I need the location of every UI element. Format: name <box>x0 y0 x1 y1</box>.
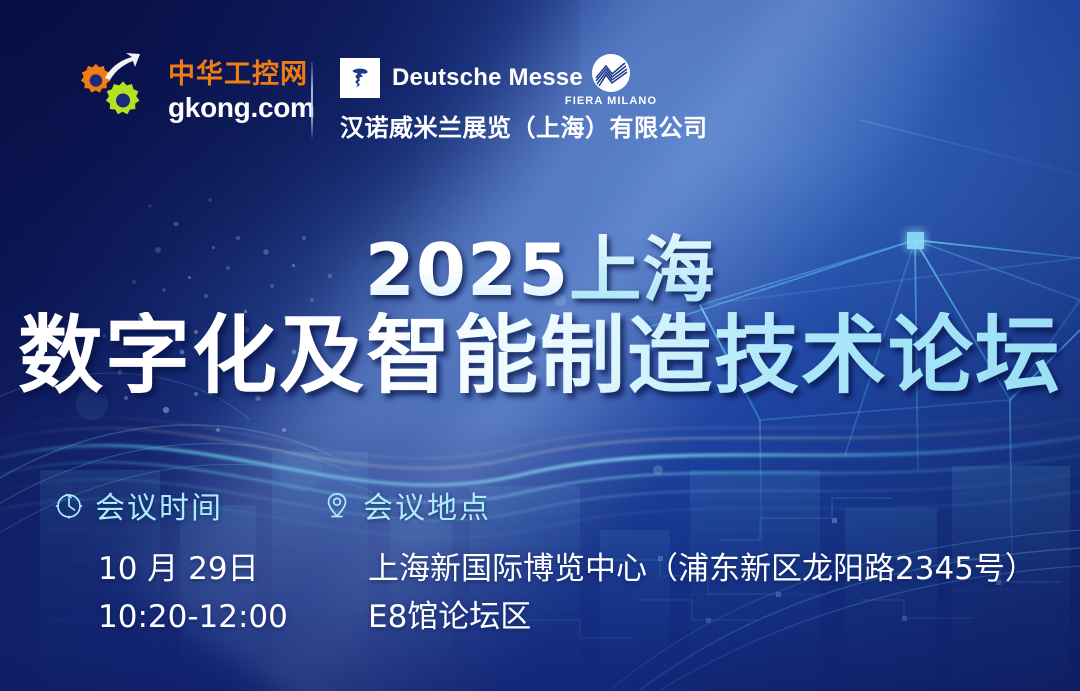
meeting-place-values: 上海新国际博览中心（浦东新区龙阳路2345号） E8馆论坛区 <box>368 545 1036 641</box>
title-line-1: 2025上海 <box>0 232 1080 308</box>
deutsche-messe-logo[interactable]: Deutsche Messe FIERA <box>340 58 708 143</box>
dm-cn-company: 汉诺威米兰展览（上海）有限公司 <box>340 108 708 143</box>
info-section: 会议时间 会议地点 10 月 29日 10:20-12:00 上海新国 <box>0 483 1080 545</box>
fiera-milano-logo[interactable]: FIERA MILANO <box>556 54 666 107</box>
meeting-date: 10 月 29日 <box>98 545 288 593</box>
deutsche-messe-face-icon <box>340 58 380 98</box>
meeting-place-heading: 会议地点 <box>322 483 491 527</box>
gkong-cn-text: 中华工控网 <box>168 61 315 88</box>
info-headings: 会议时间 会议地点 <box>0 483 1080 529</box>
logo-divider <box>311 62 313 138</box>
clock-icon <box>54 490 84 520</box>
banner-header: 中华工控网 gkong.com Deutsche Messe <box>0 0 1080 170</box>
gkong-logo[interactable]: 中华工控网 gkong.com <box>62 52 315 126</box>
gears-icon <box>62 52 158 126</box>
title-city: 上海 <box>569 228 715 312</box>
meeting-time-heading: 会议时间 <box>54 483 223 527</box>
meeting-time-label: 会议时间 <box>95 483 223 527</box>
event-banner: 中华工控网 gkong.com Deutsche Messe <box>0 0 1080 691</box>
growth-arrow-icon <box>105 53 140 80</box>
location-pin-icon <box>322 490 352 520</box>
venue-address: 上海新国际博览中心（浦东新区龙阳路2345号） <box>368 545 1036 593</box>
meeting-place-label: 会议地点 <box>363 483 491 527</box>
fiera-milano-name: FIERA MILANO <box>556 95 666 107</box>
title-line-2: 数字化及智能制造技术论坛 <box>0 312 1080 402</box>
title-block: 2025上海 数字化及智能制造技术论坛 <box>0 232 1080 402</box>
title-year: 2025 <box>365 228 569 312</box>
fiera-milano-circle-icon <box>592 54 630 92</box>
meeting-hours: 10:20-12:00 <box>98 593 288 641</box>
deutsche-messe-name: Deutsche Messe <box>392 64 583 92</box>
meeting-time-values: 10 月 29日 10:20-12:00 <box>98 545 288 641</box>
gkong-en-text: gkong.com <box>168 94 315 122</box>
venue-hall: E8馆论坛区 <box>368 593 1036 641</box>
deutsche-messe-row: Deutsche Messe FIERA <box>340 58 708 98</box>
